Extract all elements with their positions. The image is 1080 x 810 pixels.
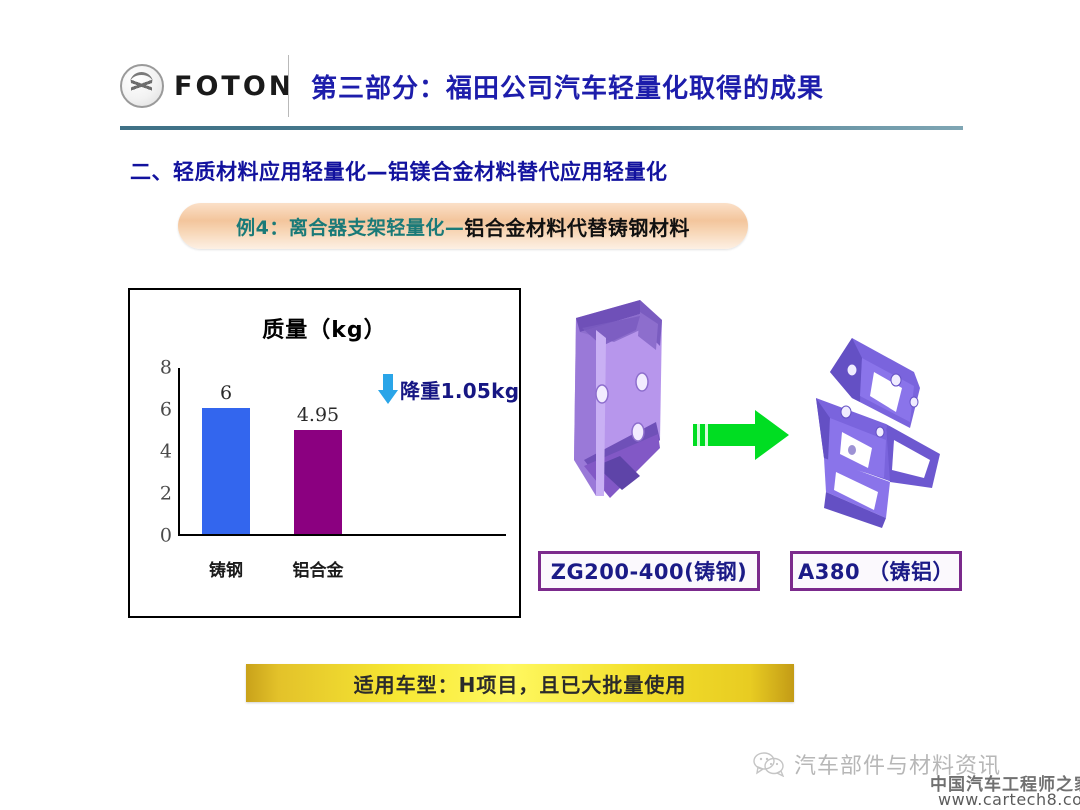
weight-reduction-annotation: 降重1.05kg — [378, 374, 519, 404]
bar-aluminum-alloy: 4.95 铝合金 — [294, 430, 342, 534]
chart-title: 质量（kg） — [130, 312, 519, 344]
bar-cast-steel: 6 铸钢 — [202, 408, 250, 534]
callout-text-secondary: 铝合金材料代替铸钢材料 — [464, 212, 690, 241]
section-heading: 二、轻质材料应用轻量化—铝镁合金材料替代应用轻量化 — [130, 156, 668, 186]
bar-value-label: 6 — [220, 382, 232, 404]
annotation-text: 降重1.05kg — [400, 375, 519, 404]
page-title: 第三部分：福田公司汽车轻量化取得的成果 — [311, 68, 824, 105]
bar-category-label: 铝合金 — [293, 556, 344, 581]
foton-emblem-icon — [120, 64, 164, 108]
y-tick: 8 — [160, 357, 172, 379]
cast-aluminum-bracket-image — [790, 332, 970, 532]
site-url-watermark: www.cartech8.com — [938, 790, 1080, 809]
mass-bar-chart: 质量（kg） 8 6 4 2 0 6 铸钢 4.95 铝合金 降重1.05kg — [128, 288, 521, 618]
transform-arrow-icon — [693, 406, 789, 464]
example-callout-pill: 例4：离合器支架轻量化— 铝合金材料代替铸钢材料 — [178, 203, 748, 249]
header-rule — [120, 126, 963, 130]
wechat-icon — [752, 751, 786, 777]
bar-value-label: 4.95 — [297, 404, 339, 426]
banner-text: 适用车型：H项目，且已大批量使用 — [354, 669, 687, 698]
y-tick: 2 — [160, 483, 172, 505]
part-label-cast-steel: ZG200-400(铸钢) — [538, 551, 760, 591]
y-tick: 4 — [160, 441, 172, 463]
foton-logo: FOTON — [120, 64, 280, 108]
x-axis — [178, 534, 506, 536]
y-axis — [178, 368, 180, 536]
y-tick: 6 — [160, 399, 172, 421]
down-arrow-icon — [378, 374, 398, 404]
y-tick: 0 — [160, 525, 172, 547]
foton-wordmark: FOTON — [174, 71, 294, 102]
slide-header: FOTON 第三部分：福田公司汽车轻量化取得的成果 — [120, 52, 965, 120]
part-label-cast-aluminum: A380 （铸铝） — [790, 551, 962, 591]
application-banner: 适用车型：H项目，且已大批量使用 — [246, 664, 794, 702]
callout-text-primary: 例4：离合器支架轻量化— — [236, 213, 464, 240]
bar-category-label: 铸钢 — [209, 556, 243, 581]
header-divider — [288, 55, 289, 117]
